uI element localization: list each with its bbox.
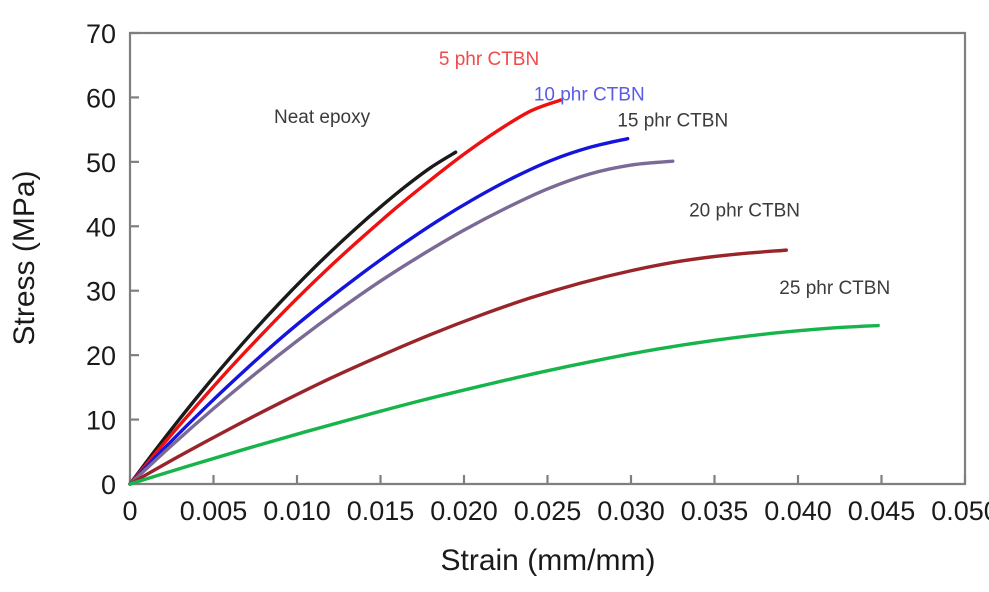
x-tick-label: 0.005 — [180, 496, 248, 526]
series-label: 25 phr CTBN — [779, 278, 890, 299]
series-curve — [130, 161, 673, 484]
series-labels: Neat epoxy5 phr CTBN10 phr CTBN15 phr CT… — [274, 49, 890, 299]
series-curve — [130, 326, 878, 484]
y-axis-title: Stress (MPa) — [8, 170, 41, 345]
x-tick-label: 0.015 — [347, 496, 415, 526]
chart-canvas: 00.0050.0100.0150.0200.0250.0300.0350.04… — [0, 0, 989, 592]
series-label: 5 phr CTBN — [439, 49, 539, 70]
x-tick-label: 0.045 — [848, 496, 916, 526]
x-tick-label: 0.050 — [931, 496, 989, 526]
series-label: 20 phr CTBN — [689, 201, 800, 222]
y-tick-label: 30 — [86, 277, 116, 307]
y-tick-label: 10 — [86, 406, 116, 436]
y-tick-label: 0 — [101, 470, 116, 500]
y-tick-labels: 010203040506070 — [86, 19, 116, 500]
series-curve — [130, 139, 628, 484]
x-tick-label: 0.040 — [764, 496, 832, 526]
x-tick-label: 0.030 — [597, 496, 665, 526]
x-tick-label: 0.025 — [514, 496, 582, 526]
series-label: Neat epoxy — [274, 107, 371, 128]
x-tick-labels: 00.0050.0100.0150.0200.0250.0300.0350.04… — [122, 496, 989, 526]
series-label: 10 phr CTBN — [534, 85, 645, 106]
x-tick-label: 0.010 — [263, 496, 331, 526]
y-tick-label: 70 — [86, 19, 116, 49]
x-tick-label: 0.020 — [430, 496, 498, 526]
y-tick-label: 60 — [86, 83, 116, 113]
y-tick-label: 50 — [86, 148, 116, 178]
y-tick-label: 40 — [86, 212, 116, 242]
data-curves — [130, 100, 878, 484]
x-tick-label: 0 — [122, 496, 137, 526]
x-axis-title: Strain (mm/mm) — [441, 544, 656, 577]
y-tick-label: 20 — [86, 341, 116, 371]
stress-strain-chart: 00.0050.0100.0150.0200.0250.0300.0350.04… — [0, 0, 989, 592]
series-label: 15 phr CTBN — [617, 110, 728, 131]
series-curve — [130, 250, 786, 484]
x-tick-label: 0.035 — [681, 496, 749, 526]
